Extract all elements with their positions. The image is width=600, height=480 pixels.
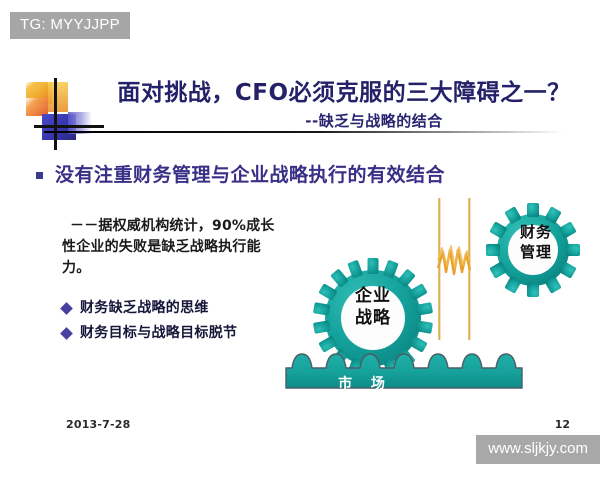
page-subtitle: --缺乏与战略的结合 — [96, 110, 592, 132]
title-divider — [44, 131, 564, 133]
diamond-bullet-icon — [60, 327, 73, 340]
footer-page-number: 12 — [555, 418, 570, 431]
title-block: 面对挑战，CFO必须克服的三大障碍之一？ --缺乏与战略的结合 — [96, 78, 592, 132]
body-note-line-3: 力。 — [62, 258, 282, 279]
body-note-line-2: 性企业的失败是缺乏战略执行能 — [62, 237, 282, 258]
page-title: 面对挑战，CFO必须克服的三大障碍之一？ — [96, 78, 592, 108]
rack-market — [286, 354, 522, 388]
footer-date: 2013-7-28 — [66, 418, 131, 431]
body-note-line-1: －－据权威机构统计，90%成长 — [62, 216, 282, 237]
slide-canvas: TG: MYYJJPP — [0, 0, 600, 480]
square-bullet-icon — [36, 172, 43, 179]
sub-bullet-label-2: 财务目标与战略目标脱节 — [80, 323, 237, 343]
main-bullet-label: 没有注重财务管理与企业战略执行的有效结合 — [55, 162, 445, 188]
tg-watermark: TG: MYYJJPP — [10, 12, 130, 39]
site-watermark: www.sljkjy.com — [476, 435, 600, 464]
spark-disconnect-icon — [438, 198, 471, 340]
decorative-logo-mark — [24, 78, 104, 150]
diamond-bullet-icon — [60, 302, 73, 315]
gear-financial-management — [486, 203, 580, 297]
gear-diagram: 企业 战略 财务 管理 市 场 — [270, 190, 600, 410]
body-note: －－据权威机构统计，90%成长 性企业的失败是缺乏战略执行能 力。 — [62, 216, 282, 279]
logo-icon — [24, 78, 104, 150]
gear-diagram-graphic — [270, 190, 600, 410]
main-bullet: 没有注重财务管理与企业战略执行的有效结合 — [36, 162, 445, 188]
sub-bullet-label-1: 财务缺乏战略的思维 — [80, 298, 209, 318]
